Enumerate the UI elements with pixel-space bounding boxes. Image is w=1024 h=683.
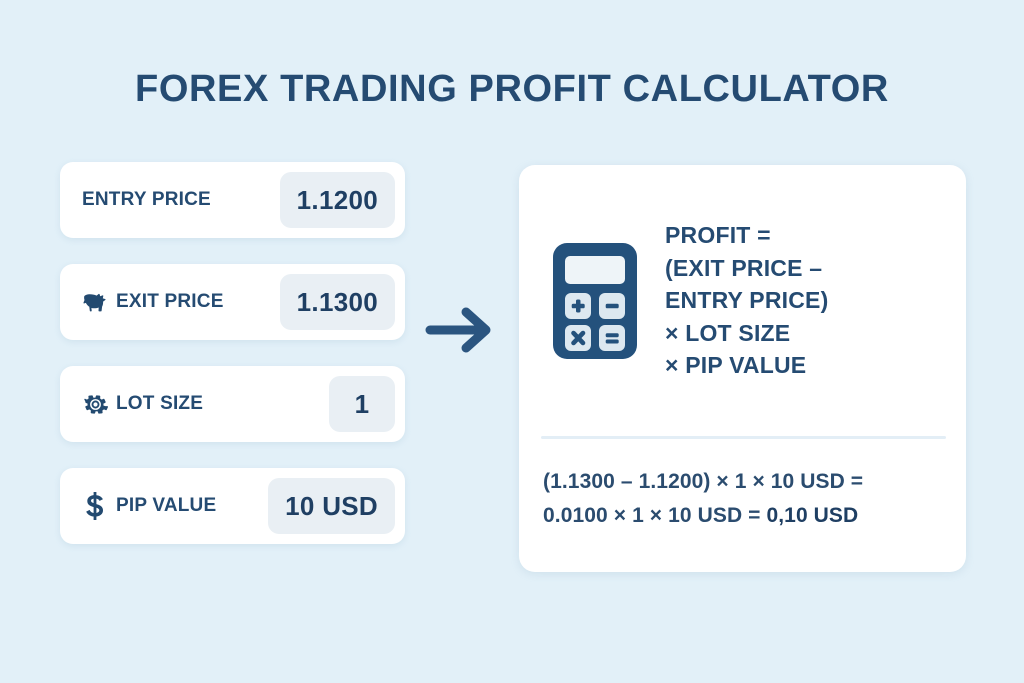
input-card-exit-price[interactable]: EXIT PRICE 1.1300: [60, 264, 405, 340]
formula-text: PROFIT = (EXIT PRICE – ENTRY PRICE) × LO…: [665, 219, 942, 382]
dollar-icon: [82, 493, 108, 519]
input-value-entry-price[interactable]: 1.1200: [280, 172, 395, 228]
input-label-group-pip-value: PIP VALUE: [82, 493, 268, 519]
input-label-group-exit-price: EXIT PRICE: [82, 289, 280, 315]
input-label-group-entry-price: ENTRY PRICE: [82, 189, 280, 211]
calculation-line-1: (1.1300 – 1.1200) × 1 × 10 USD =: [543, 465, 948, 499]
input-card-entry-price[interactable]: ENTRY PRICE 1.1200: [60, 162, 405, 238]
field-label-pip-value: PIP VALUE: [116, 495, 216, 517]
bull-icon: [82, 289, 108, 315]
input-label-group-lot-size: LOT SIZE: [82, 391, 329, 417]
input-card-lot-size[interactable]: LOT SIZE 1: [60, 366, 405, 442]
arrow-right-icon: [424, 302, 500, 358]
field-label-lot-size: LOT SIZE: [116, 393, 203, 415]
input-card-list: ENTRY PRICE 1.1200 EXIT PRICE 1.1300 LOT…: [60, 162, 405, 570]
formula-line-4: × LOT SIZE: [665, 317, 942, 350]
input-value-pip-value[interactable]: 10 USD: [268, 478, 395, 534]
calculation-line-2-prefix: 0.0100 × 1 × 10 USD =: [543, 504, 766, 527]
input-value-lot-size[interactable]: 1: [329, 376, 395, 432]
field-label-exit-price: EXIT PRICE: [116, 291, 224, 313]
formula-row: PROFIT = (EXIT PRICE – ENTRY PRICE) × LO…: [519, 165, 966, 436]
calculation-line-2: 0.0100 × 1 × 10 USD = 0,10 USD: [543, 499, 948, 533]
input-card-pip-value[interactable]: PIP VALUE 10 USD: [60, 468, 405, 544]
calculation-text: (1.1300 – 1.1200) × 1 × 10 USD = 0.0100 …: [543, 465, 948, 533]
formula-line-1: PROFIT =: [665, 219, 942, 252]
panel-divider: [541, 436, 946, 439]
page-title: FOREX TRADING PROFIT CALCULATOR: [0, 68, 1024, 111]
formula-line-2: (EXIT PRICE –: [665, 252, 942, 285]
input-value-exit-price[interactable]: 1.1300: [280, 274, 395, 330]
field-label-entry-price: ENTRY PRICE: [82, 189, 211, 211]
formula-line-3: ENTRY PRICE): [665, 284, 942, 317]
formula-line-5: × PIP VALUE: [665, 349, 942, 382]
gear-icon: [82, 391, 108, 417]
result-panel: PROFIT = (EXIT PRICE – ENTRY PRICE) × LO…: [519, 165, 966, 572]
calculator-icon: [549, 239, 641, 363]
result-value: 0,10 USD: [766, 504, 858, 527]
